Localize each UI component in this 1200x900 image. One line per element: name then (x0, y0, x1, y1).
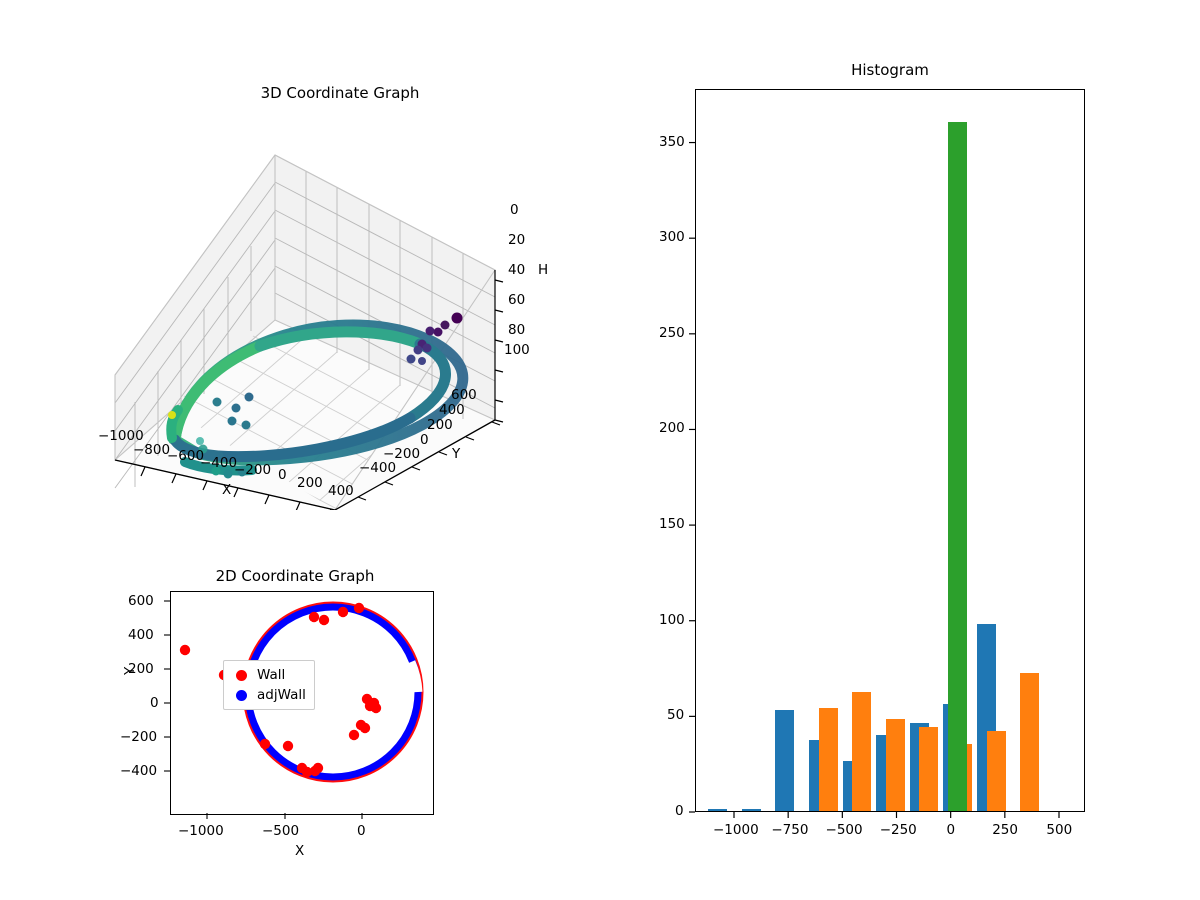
plot3d-ztick-100: 100 (504, 342, 530, 358)
plot3d-ytick-m400: −400 (359, 460, 396, 476)
plot3d-ytick-m200: −200 (383, 446, 420, 462)
axes-histogram: Histogram 050100150200250300350 −1000−75… (695, 89, 1085, 812)
plot3d-xtick-0: 0 (278, 467, 287, 483)
histogram-bar (886, 719, 905, 811)
plot2d-xtick-m500: −500 (262, 823, 299, 839)
histogram-xtick-label: −250 (880, 822, 917, 838)
histogram-bar (852, 692, 871, 811)
legend-marker-adjwall-icon (236, 690, 247, 701)
histogram-xtick-label: −1000 (713, 822, 759, 838)
plot3d-ztick-60: 60 (508, 292, 525, 308)
histogram-bar (919, 727, 938, 811)
histogram-ytick-label: 250 (659, 325, 685, 341)
histogram-bar (948, 122, 967, 811)
histogram-ytick-label: 200 (659, 420, 685, 436)
plot2d-xtick-0: 0 (357, 823, 366, 839)
plot3d-xtick-m600: −600 (167, 448, 204, 464)
histogram-bar (708, 809, 727, 811)
plot3d-ztick-20: 20 (508, 232, 525, 248)
legend-label-wall: Wall (257, 667, 285, 683)
plot3d-ytick-200: 200 (427, 417, 453, 433)
plot2d-ytick-m200: −200 (120, 729, 157, 745)
histogram-frame (695, 89, 1085, 812)
plot3d-xtick-200: 200 (297, 475, 323, 491)
plot2d-frame: Wall adjWall (170, 591, 434, 815)
legend-item-wall: Wall (230, 665, 306, 685)
histogram-ytick-label: 300 (659, 229, 685, 245)
plot3d-xtick-m800: −800 (133, 442, 170, 458)
legend-item-adjwall: adjWall (230, 685, 306, 705)
legend-marker-wall-icon (236, 670, 247, 681)
plot3d-ztick-0: 0 (510, 202, 519, 218)
histogram-ytick-label: 100 (659, 612, 685, 628)
plot3d-ytick-600: 600 (451, 387, 477, 403)
histogram-bar (987, 731, 1006, 811)
histogram-ytick-label: 350 (659, 134, 685, 150)
plot2d-xtick-m1000: −1000 (178, 823, 224, 839)
histogram-bar (775, 710, 794, 811)
plot2d-legend: Wall adjWall (223, 660, 315, 710)
axes-2d-coordinate-graph: 2D Coordinate Graph (130, 565, 480, 860)
axes-3d-coordinate-graph: 3D Coordinate Graph (100, 70, 580, 510)
plot3d-xlabel: X (222, 482, 231, 498)
plot2d-ytick-600: 600 (128, 593, 154, 609)
plot3d-xtick-m400: −400 (200, 455, 237, 471)
histogram-xtick-label: −750 (771, 822, 808, 838)
histogram-xtick-label: −500 (826, 822, 863, 838)
plot2d-title: 2D Coordinate Graph (120, 567, 470, 585)
histogram-bar (742, 809, 761, 811)
plot3d-xtick-m200: −200 (234, 462, 271, 478)
histogram-xtick-label: 250 (992, 822, 1018, 838)
histogram-ytick-label: 50 (667, 707, 684, 723)
histogram-bar (1020, 673, 1039, 811)
histogram-ytick-label: 150 (659, 516, 685, 532)
histogram-xtick-label: 0 (946, 822, 955, 838)
plot2d-ylabel: Y (122, 667, 138, 675)
plot3d-canvas (100, 70, 580, 510)
plot3d-ztick-40: 40 (508, 262, 525, 278)
histogram-ytick-label: 0 (675, 803, 684, 819)
histogram-xtick-label: 500 (1046, 822, 1072, 838)
plot2d-ytick-400: 400 (128, 627, 154, 643)
legend-label-adjwall: adjWall (257, 687, 306, 703)
plot3d-ytick-400: 400 (439, 402, 465, 418)
histogram-title: Histogram (695, 61, 1085, 79)
plot2d-ytick-m400: −400 (120, 763, 157, 779)
plot3d-ytick-0: 0 (420, 432, 429, 448)
matplotlib-figure: 3D Coordinate Graph (0, 0, 1200, 900)
plot3d-zlabel: H (538, 262, 548, 278)
plot3d-ylabel: Y (452, 446, 460, 462)
plot3d-xtick-400: 400 (328, 483, 354, 499)
plot2d-ytick-0: 0 (150, 695, 159, 711)
histogram-bars (696, 90, 1084, 811)
plot3d-ztick-80: 80 (508, 322, 525, 338)
plot2d-xlabel: X (295, 843, 304, 859)
axis3d-z (495, 270, 503, 422)
histogram-bar (819, 708, 838, 811)
